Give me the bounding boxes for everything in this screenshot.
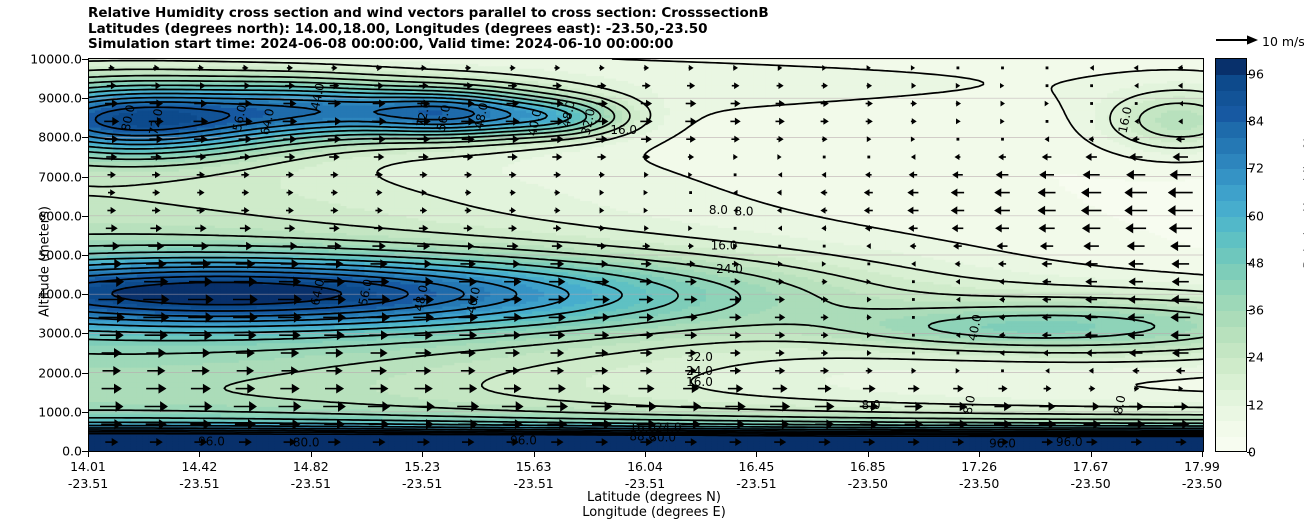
x-tick-mark bbox=[868, 452, 869, 457]
contour-label: 8.0 bbox=[709, 203, 728, 217]
wind-vector-dot bbox=[1046, 85, 1048, 87]
colorbar-swatch bbox=[1216, 311, 1246, 327]
x-axis-label-latitude: Latitude (degrees N) bbox=[404, 490, 904, 505]
contour-label: 16.0 bbox=[711, 238, 738, 252]
x-tick-label: 17.67-23.50 bbox=[1070, 458, 1110, 492]
x-tick-mark bbox=[1091, 452, 1092, 457]
colorbar-swatch bbox=[1216, 248, 1246, 264]
wind-vector-dot bbox=[779, 245, 781, 247]
colorbar-swatch bbox=[1216, 406, 1246, 422]
y-tick-mark bbox=[82, 255, 88, 256]
colorbar-swatch bbox=[1216, 169, 1246, 185]
y-tick-mark bbox=[82, 98, 88, 99]
contour-label: 32.0 bbox=[686, 350, 713, 364]
title-line-3: Simulation start time: 2024-06-08 00:00:… bbox=[88, 37, 1188, 53]
colorbar-tick-mark bbox=[1247, 216, 1252, 217]
contour-label: 96.0 bbox=[198, 434, 225, 448]
colorbar-swatch bbox=[1216, 138, 1246, 154]
wind-vector-dot bbox=[913, 317, 915, 319]
y-tick-mark bbox=[82, 59, 88, 60]
colorbar-swatch bbox=[1216, 232, 1246, 248]
wind-vector-dot bbox=[868, 156, 870, 158]
title-line-1: Relative Humidity cross section and wind… bbox=[88, 6, 1188, 22]
colorbar-swatch bbox=[1216, 201, 1246, 217]
wind-vector-dot bbox=[913, 281, 915, 283]
wind-key-label: 10 m/s bbox=[1262, 34, 1304, 49]
wind-vector-dot bbox=[690, 210, 692, 212]
plot-canvas: 80.072.056.064.044.072.056.048.040.048.0… bbox=[89, 59, 1203, 451]
y-tick-label: 5000.0 bbox=[22, 248, 82, 263]
contour-label: 8.0 bbox=[734, 204, 753, 218]
wind-vector-dot bbox=[1091, 85, 1093, 87]
colorbar-swatch bbox=[1216, 280, 1246, 296]
contour-label: 24.0 bbox=[716, 262, 743, 276]
wind-vector-dot bbox=[913, 334, 915, 336]
y-tick-label: 3000.0 bbox=[22, 326, 82, 341]
y-tick-label: 9000.0 bbox=[22, 91, 82, 106]
wind-vector-dot bbox=[1046, 67, 1048, 69]
contour-label: 96.0 bbox=[510, 434, 537, 448]
wind-vector-dot bbox=[1091, 121, 1093, 123]
x-tick-label: 16.85-23.50 bbox=[848, 458, 888, 492]
y-tick-label: 10000.0 bbox=[22, 52, 82, 67]
y-tick-label: 7000.0 bbox=[22, 169, 82, 184]
colorbar-swatch bbox=[1216, 437, 1246, 452]
x-axis-label-longitude: Longitude (degrees E) bbox=[404, 505, 904, 520]
y-tick-mark bbox=[82, 294, 88, 295]
wind-vector-dot bbox=[913, 352, 915, 354]
colorbar-swatch bbox=[1216, 343, 1246, 359]
wind-vector-dot bbox=[1135, 103, 1137, 105]
contour-label: 8.0 bbox=[861, 398, 880, 412]
contour-label: 80.0 bbox=[649, 431, 676, 445]
y-tick-mark bbox=[82, 373, 88, 374]
colorbar-swatch bbox=[1216, 390, 1246, 406]
x-tick-mark bbox=[534, 452, 535, 457]
y-tick-label: 6000.0 bbox=[22, 208, 82, 223]
colorbar-swatch bbox=[1216, 421, 1246, 437]
y-tick-label: 2000.0 bbox=[22, 365, 82, 380]
colorbar-swatch bbox=[1216, 154, 1246, 170]
wind-vector-dot bbox=[734, 174, 736, 176]
y-tick-label: 0.0 bbox=[22, 444, 82, 459]
contour-label: 16.0 bbox=[686, 375, 713, 389]
colorbar-tick-mark bbox=[1247, 357, 1252, 358]
colorbar-tick-mark bbox=[1247, 405, 1252, 406]
colorbar-swatch bbox=[1216, 264, 1246, 280]
colorbar bbox=[1215, 58, 1247, 452]
x-tick-label: 16.45-23.51 bbox=[736, 458, 776, 492]
colorbar-swatch bbox=[1216, 185, 1246, 201]
contour-label: 96.0 bbox=[989, 436, 1016, 450]
colorbar-tick-mark bbox=[1247, 263, 1252, 264]
colorbar-swatch bbox=[1216, 59, 1246, 75]
colorbar-swatch bbox=[1216, 327, 1246, 343]
colorbar-swatch bbox=[1216, 122, 1246, 138]
y-axis: Altitude (meters) 0.01000.02000.03000.04… bbox=[10, 58, 82, 452]
y-tick-mark bbox=[82, 412, 88, 413]
x-tick-mark bbox=[311, 452, 312, 457]
x-tick-label: 16.04-23.51 bbox=[625, 458, 665, 492]
x-tick-label: 14.01-23.51 bbox=[68, 458, 108, 492]
colorbar-swatch bbox=[1216, 295, 1246, 311]
wind-vector-dot bbox=[957, 138, 959, 140]
colorbar-swatch bbox=[1216, 374, 1246, 390]
y-tick-label: 4000.0 bbox=[22, 287, 82, 302]
colorbar-tick-mark bbox=[1247, 452, 1252, 453]
wind-vector-dot bbox=[823, 156, 825, 158]
wind-vector-dot bbox=[1046, 121, 1048, 123]
y-tick-label: 1000.0 bbox=[22, 404, 82, 419]
colorbar-swatch bbox=[1216, 91, 1246, 107]
y-tick-mark bbox=[82, 137, 88, 138]
wind-vector-dot bbox=[734, 227, 736, 229]
wind-vector-dot bbox=[957, 352, 959, 354]
x-tick-label: 17.99-23.50 bbox=[1182, 458, 1222, 492]
wind-vector-dot bbox=[1002, 138, 1004, 140]
colorbar-swatch bbox=[1216, 358, 1246, 374]
cross-section-plot: 80.072.056.064.044.072.056.048.040.048.0… bbox=[88, 58, 1204, 452]
x-tick-mark bbox=[979, 452, 980, 457]
wind-vector-dot bbox=[1002, 67, 1004, 69]
wind-vector-dot bbox=[1091, 103, 1093, 105]
wind-vector-key: 10 m/s bbox=[1214, 32, 1304, 52]
x-tick-label: 15.23-23.51 bbox=[402, 458, 442, 492]
y-tick-label: 8000.0 bbox=[22, 130, 82, 145]
wind-vector-dot bbox=[823, 245, 825, 247]
colorbar-tick-mark bbox=[1247, 310, 1252, 311]
x-tick-label: 15.63-23.51 bbox=[513, 458, 553, 492]
wind-vector-dot bbox=[913, 299, 915, 301]
colorbar-swatch bbox=[1216, 106, 1246, 122]
x-tick-mark bbox=[645, 452, 646, 457]
colorbar-tick-mark bbox=[1247, 121, 1252, 122]
colorbar-swatch bbox=[1216, 75, 1246, 91]
page-title: Relative Humidity cross section and wind… bbox=[88, 6, 1188, 53]
wind-vector-dot bbox=[868, 263, 870, 265]
x-tick-label: 14.82-23.51 bbox=[291, 458, 331, 492]
wind-vector-dot bbox=[690, 192, 692, 194]
contour-label: 80.0 bbox=[293, 436, 320, 450]
y-tick-mark bbox=[82, 333, 88, 334]
x-tick-label: 14.42-23.51 bbox=[179, 458, 219, 492]
contour-label: 96.0 bbox=[1056, 435, 1083, 449]
y-tick-mark bbox=[82, 177, 88, 178]
contour-label: 16.0 bbox=[610, 123, 637, 137]
wind-key-arrow-icon bbox=[1214, 32, 1260, 48]
wind-vector-dot bbox=[957, 67, 959, 69]
x-tick-mark bbox=[756, 452, 757, 457]
x-tick-label: 17.26-23.50 bbox=[959, 458, 999, 492]
colorbar-tick-mark bbox=[1247, 74, 1252, 75]
wind-vector-dot bbox=[1002, 370, 1004, 372]
x-tick-mark bbox=[88, 452, 89, 457]
y-tick-mark bbox=[82, 216, 88, 217]
colorbar-swatch bbox=[1216, 217, 1246, 233]
title-line-2: Latitudes (degrees north): 14.00,18.00, … bbox=[88, 22, 1188, 38]
x-tick-mark bbox=[422, 452, 423, 457]
x-tick-mark bbox=[1202, 452, 1203, 457]
x-tick-mark bbox=[199, 452, 200, 457]
colorbar-tick-mark bbox=[1247, 168, 1252, 169]
